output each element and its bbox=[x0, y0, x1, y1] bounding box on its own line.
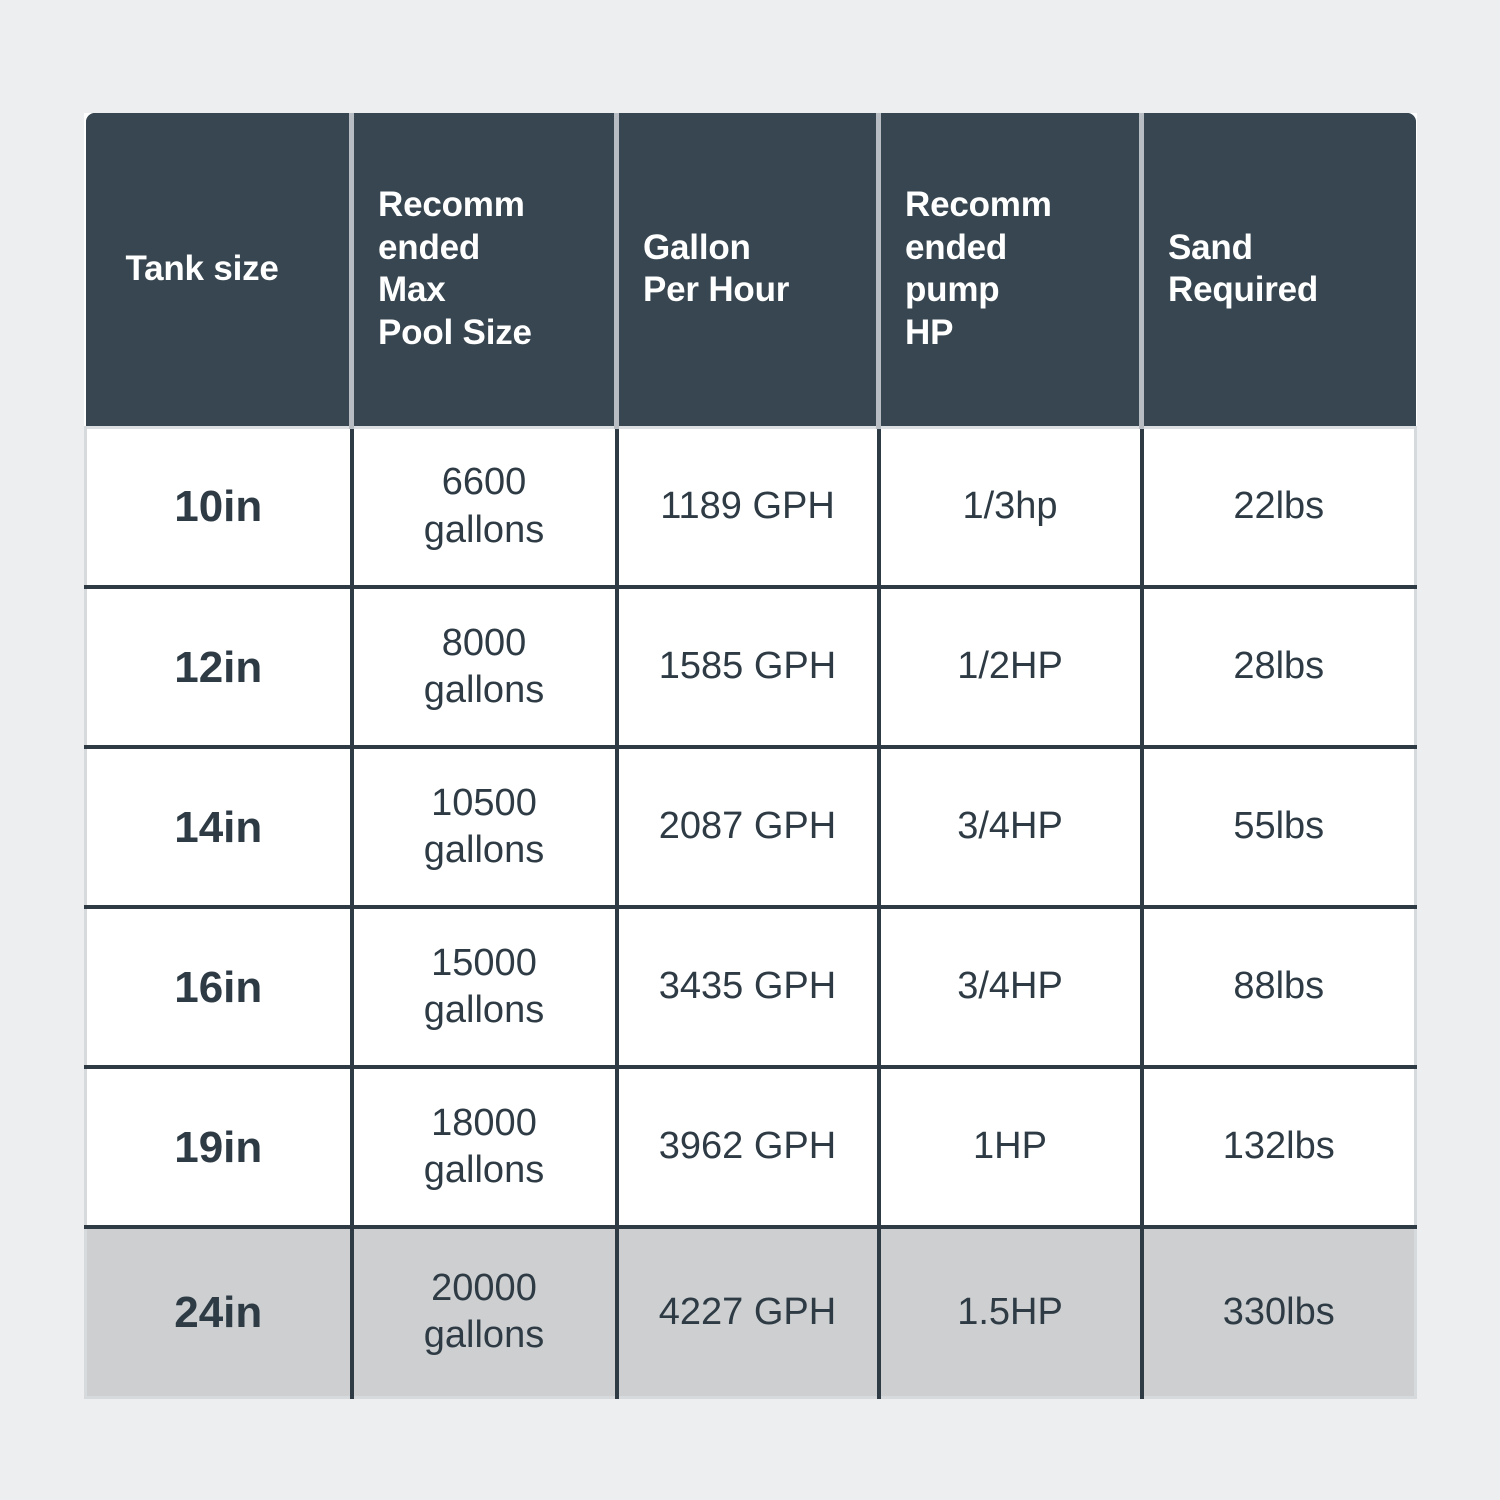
table-header-row: Tank size Recomm ended Max Pool Size Gal… bbox=[86, 113, 1416, 427]
cell-max-pool-size: 8000gallons bbox=[352, 587, 617, 747]
column-header-tank-size: Tank size bbox=[86, 113, 352, 427]
cell-line: gallons bbox=[362, 507, 607, 555]
cell-gallon-per-hour: 1585 GPH bbox=[617, 587, 879, 747]
cell-tank-size: 19in bbox=[86, 1067, 352, 1227]
cell-max-pool-size: 10500gallons bbox=[352, 747, 617, 907]
cell-tank-size: 14in bbox=[86, 747, 352, 907]
header-line: Required bbox=[1168, 269, 1416, 312]
cell-sand-required: 330lbs bbox=[1142, 1227, 1416, 1397]
table-row: 24in20000gallons4227 GPH1.5HP330lbs bbox=[86, 1227, 1416, 1397]
table-row: 16in15000gallons3435 GPH3/4HP88lbs bbox=[86, 907, 1416, 1067]
cell-max-pool-size: 15000gallons bbox=[352, 907, 617, 1067]
cell-tank-size: 16in bbox=[86, 907, 352, 1067]
cell-line: 10500 bbox=[362, 780, 607, 828]
header-line: ended bbox=[378, 227, 614, 270]
cell-line: gallons bbox=[362, 827, 607, 875]
cell-line: 6600 bbox=[362, 459, 607, 507]
cell-sand-required: 22lbs bbox=[1142, 427, 1416, 587]
cell-tank-size: 10in bbox=[86, 427, 352, 587]
cell-line: 8000 bbox=[362, 620, 607, 668]
cell-line: gallons bbox=[362, 1147, 607, 1195]
header-line: Recomm bbox=[378, 184, 614, 227]
cell-line: 18000 bbox=[362, 1100, 607, 1148]
page-root: Tank size Recomm ended Max Pool Size Gal… bbox=[0, 0, 1500, 1500]
cell-max-pool-size: 18000gallons bbox=[352, 1067, 617, 1227]
cell-sand-required: 28lbs bbox=[1142, 587, 1416, 747]
cell-line: gallons bbox=[362, 1312, 607, 1360]
cell-pump-hp: 1/3hp bbox=[879, 427, 1142, 587]
cell-sand-required: 55lbs bbox=[1142, 747, 1416, 907]
cell-line: gallons bbox=[362, 987, 607, 1035]
tank-spec-table: Tank size Recomm ended Max Pool Size Gal… bbox=[84, 113, 1417, 1399]
cell-max-pool-size: 6600gallons bbox=[352, 427, 617, 587]
column-header-sand-required: Sand Required bbox=[1142, 113, 1416, 427]
cell-pump-hp: 1HP bbox=[879, 1067, 1142, 1227]
header-line: Gallon bbox=[643, 227, 876, 270]
header-line: pump bbox=[905, 269, 1139, 312]
header-line: ended bbox=[905, 227, 1139, 270]
column-header-gallon-per-hour: Gallon Per Hour bbox=[617, 113, 879, 427]
table-header: Tank size Recomm ended Max Pool Size Gal… bbox=[86, 113, 1416, 427]
cell-max-pool-size: 20000gallons bbox=[352, 1227, 617, 1397]
cell-tank-size: 12in bbox=[86, 587, 352, 747]
cell-pump-hp: 3/4HP bbox=[879, 747, 1142, 907]
cell-gallon-per-hour: 4227 GPH bbox=[617, 1227, 879, 1397]
cell-line: 15000 bbox=[362, 940, 607, 988]
cell-tank-size: 24in bbox=[86, 1227, 352, 1397]
cell-gallon-per-hour: 2087 GPH bbox=[617, 747, 879, 907]
cell-pump-hp: 1.5HP bbox=[879, 1227, 1142, 1397]
header-line: Pool Size bbox=[378, 312, 614, 355]
column-header-pump-hp: Recomm ended pump HP bbox=[879, 113, 1142, 427]
header-line: Sand bbox=[1168, 227, 1416, 270]
table-row: 10in6600gallons1189 GPH1/3hp22lbs bbox=[86, 427, 1416, 587]
table-row: 12in8000gallons1585 GPH1/2HP28lbs bbox=[86, 587, 1416, 747]
header-line: Recomm bbox=[905, 184, 1139, 227]
header-line: Per Hour bbox=[643, 269, 876, 312]
cell-gallon-per-hour: 1189 GPH bbox=[617, 427, 879, 587]
cell-gallon-per-hour: 3962 GPH bbox=[617, 1067, 879, 1227]
column-header-max-pool-size: Recomm ended Max Pool Size bbox=[352, 113, 617, 427]
cell-sand-required: 88lbs bbox=[1142, 907, 1416, 1067]
cell-pump-hp: 1/2HP bbox=[879, 587, 1142, 747]
header-line: Tank size bbox=[126, 248, 350, 291]
table-row: 19in18000gallons3962 GPH1HP132lbs bbox=[86, 1067, 1416, 1227]
table-body: 10in6600gallons1189 GPH1/3hp22lbs12in800… bbox=[86, 427, 1416, 1397]
spec-table-container: Tank size Recomm ended Max Pool Size Gal… bbox=[84, 113, 1414, 1399]
cell-gallon-per-hour: 3435 GPH bbox=[617, 907, 879, 1067]
cell-line: gallons bbox=[362, 667, 607, 715]
cell-line: 20000 bbox=[362, 1265, 607, 1313]
cell-pump-hp: 3/4HP bbox=[879, 907, 1142, 1067]
header-line: Max bbox=[378, 269, 614, 312]
header-line: HP bbox=[905, 312, 1139, 355]
cell-sand-required: 132lbs bbox=[1142, 1067, 1416, 1227]
table-row: 14in10500gallons2087 GPH3/4HP55lbs bbox=[86, 747, 1416, 907]
